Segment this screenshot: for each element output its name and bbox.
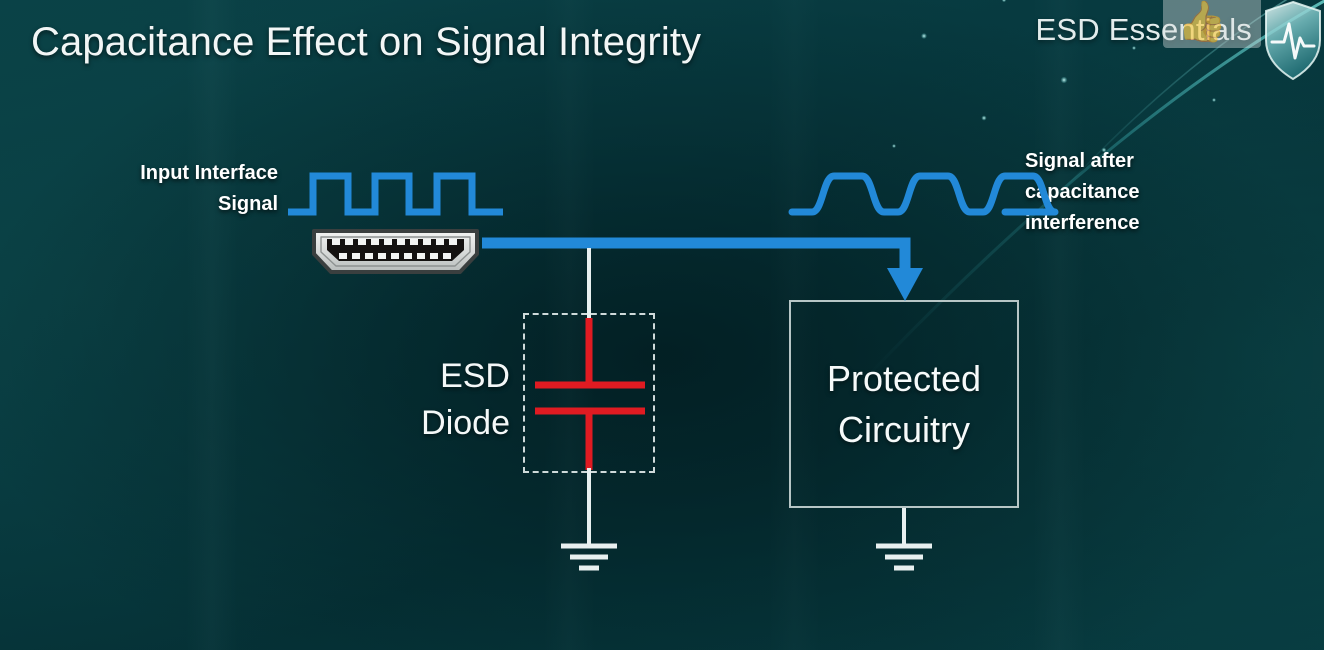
output-signal-line2: capacitance xyxy=(1025,177,1265,208)
input-signal-line1: Input Interface xyxy=(40,158,278,189)
input-signal-label: Input Interface Signal xyxy=(40,158,278,220)
input-signal-line2: Signal xyxy=(40,189,278,220)
esd-diode-label: ESD Diode xyxy=(320,353,510,447)
protected-circuitry-box: Protected Circuitry xyxy=(789,300,1019,508)
protected-circuitry-text: Protected Circuitry xyxy=(827,353,981,455)
output-signal-line3: interference xyxy=(1025,208,1265,239)
protected-circuitry-line1: Protected xyxy=(827,353,981,404)
signal-flow-arrow xyxy=(482,243,905,272)
shield-pulse-icon xyxy=(1262,0,1324,84)
page-title: Capacitance Effect on Signal Integrity xyxy=(31,20,701,65)
output-signal-line1: Signal after xyxy=(1025,146,1265,177)
signal-flow-arrowhead xyxy=(887,268,923,301)
schematic-overlay xyxy=(0,0,1324,650)
output-rounded-waveform xyxy=(792,176,1055,212)
hdmi-connector xyxy=(308,228,483,276)
ground-symbol-circuitry xyxy=(876,546,932,568)
esd-diode-line2: Diode xyxy=(320,400,510,447)
esd-diode-dashed-enclosure xyxy=(523,313,655,473)
background-streaks xyxy=(0,0,1324,650)
esd-diode-line1: ESD xyxy=(320,353,510,400)
input-square-waveform xyxy=(288,176,503,212)
brand-label: ESD Essentials xyxy=(1036,12,1252,48)
output-signal-label: Signal after capacitance interference xyxy=(1025,146,1265,239)
ground-symbol-esd xyxy=(561,546,617,568)
slide-canvas: Capacitance Effect on Signal Integrity E… xyxy=(0,0,1324,650)
protected-circuitry-line2: Circuitry xyxy=(827,404,981,455)
